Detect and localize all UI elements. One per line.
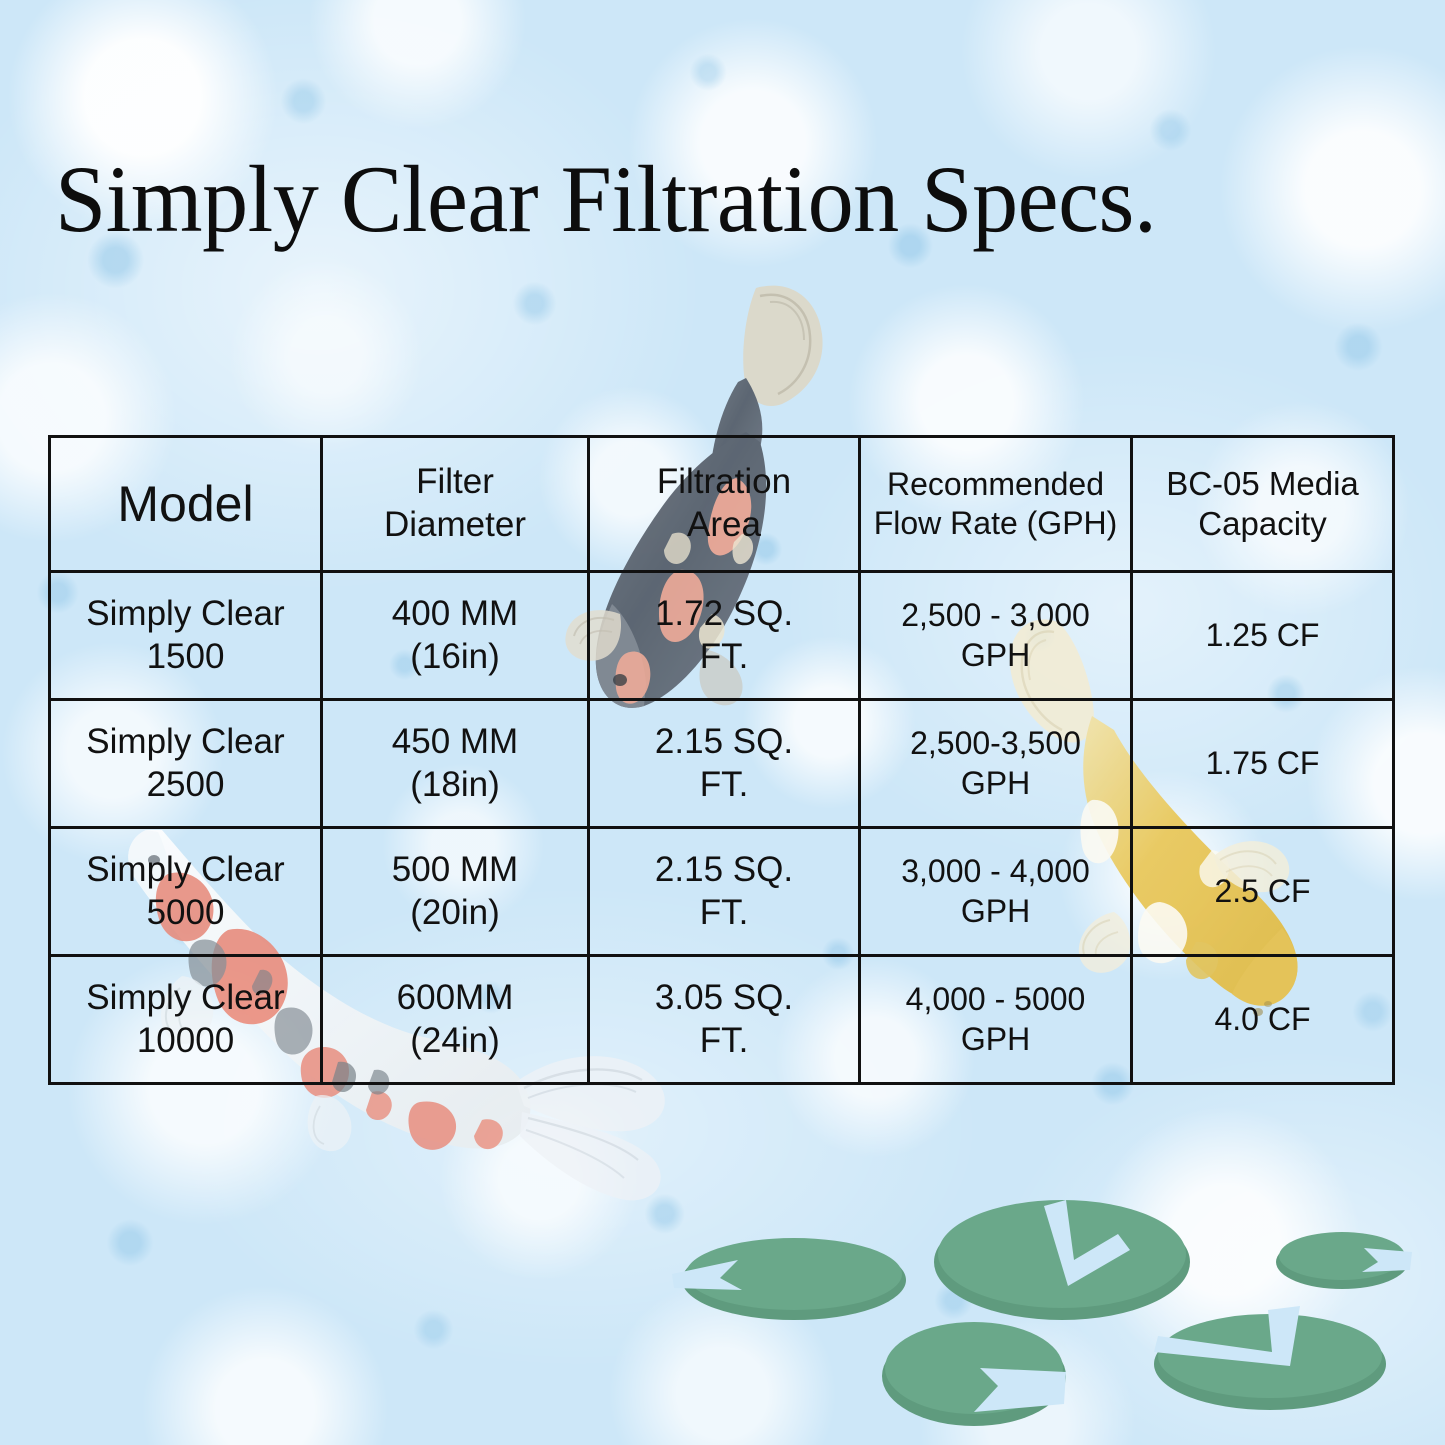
cell-line-1: 3,000 - 4,000: [867, 852, 1124, 891]
cell-line-2: GPH: [867, 764, 1124, 803]
cell-filtration-area: 1.72 SQ. FT.: [589, 572, 860, 700]
cell-line-2: FT.: [596, 1020, 852, 1063]
header-line-1: Filter: [329, 461, 581, 504]
cell-line-1: 400 MM: [329, 593, 581, 636]
cell-line-1: Simply Clear: [57, 849, 314, 892]
cell-line-1: 450 MM: [329, 721, 581, 764]
cell-line-1: 2,500-3,500: [867, 724, 1124, 763]
cell-filtration-area: 3.05 SQ. FT.: [589, 956, 860, 1084]
cell-filtration-area: 2.15 SQ. FT.: [589, 700, 860, 828]
header-line-2: Diameter: [329, 504, 581, 547]
cell-line-2: 5000: [57, 892, 314, 935]
cell-line-1: 2.15 SQ.: [596, 721, 852, 764]
column-header-recommended-flow-rate: Recommended Flow Rate (GPH): [860, 437, 1132, 572]
cell-filter-diameter: 400 MM (16in): [322, 572, 589, 700]
header-line-2: Flow Rate (GPH): [867, 504, 1124, 543]
header-line-2: Capacity: [1139, 504, 1386, 544]
cell-line-1: Simply Clear: [57, 593, 314, 636]
cell-line-1: 500 MM: [329, 849, 581, 892]
cell-line-2: GPH: [867, 1020, 1124, 1059]
cell-model: Simply Clear 2500: [50, 700, 322, 828]
cell-media-capacity: 1.75 CF: [1132, 700, 1394, 828]
cell-filtration-area: 2.15 SQ. FT.: [589, 828, 860, 956]
cell-line-2: (18in): [329, 764, 581, 807]
cell-line-1: Simply Clear: [57, 721, 314, 764]
cell-model: Simply Clear 5000: [50, 828, 322, 956]
page-title: Simply Clear Filtration Specs.: [55, 152, 1156, 247]
table-row: Simply Clear 2500 450 MM (18in) 2.15 SQ.…: [50, 700, 1394, 828]
cell-line-2: GPH: [867, 892, 1124, 931]
column-header-model: Model: [50, 437, 322, 572]
table-row: Simply Clear 10000 600MM (24in) 3.05 SQ.…: [50, 956, 1394, 1084]
cell-model: Simply Clear 10000: [50, 956, 322, 1084]
cell-filter-diameter: 600MM (24in): [322, 956, 589, 1084]
column-header-filter-diameter: Filter Diameter: [322, 437, 589, 572]
cell-media-capacity: 4.0 CF: [1132, 956, 1394, 1084]
cell-media-capacity: 1.25 CF: [1132, 572, 1394, 700]
cell-line-2: FT.: [596, 636, 852, 679]
header-line-1: Recommended: [867, 465, 1124, 504]
header-line-2: Area: [596, 504, 852, 547]
filtration-specs-table: Model Filter Diameter Filtration Area Re…: [48, 435, 1395, 1085]
lily-pad-small-right-illustration: [1272, 1222, 1412, 1292]
cell-flow-rate: 4,000 - 5000 GPH: [860, 956, 1132, 1084]
cell-line-2: GPH: [867, 636, 1124, 675]
cell-line-2: (20in): [329, 892, 581, 935]
column-header-bc05-media-capacity: BC-05 Media Capacity: [1132, 437, 1394, 572]
lily-pad-small-left-illustration: [672, 1228, 912, 1324]
cell-line-2: 10000: [57, 1020, 314, 1063]
cell-line-2: 1500: [57, 636, 314, 679]
header-line-1: BC-05 Media: [1139, 464, 1386, 504]
table-header-row: Model Filter Diameter Filtration Area Re…: [50, 437, 1394, 572]
cell-filter-diameter: 500 MM (20in): [322, 828, 589, 956]
cell-flow-rate: 2,500-3,500 GPH: [860, 700, 1132, 828]
table-row: Simply Clear 1500 400 MM (16in) 1.72 SQ.…: [50, 572, 1394, 700]
cell-line-1: 2,500 - 3,000: [867, 596, 1124, 635]
cell-line-2: FT.: [596, 764, 852, 807]
cell-line-1: 3.05 SQ.: [596, 977, 852, 1020]
cell-filter-diameter: 450 MM (18in): [322, 700, 589, 828]
cell-line-2: FT.: [596, 892, 852, 935]
cell-line-1: 600MM: [329, 977, 581, 1020]
column-header-filtration-area: Filtration Area: [589, 437, 860, 572]
cell-line-1: Simply Clear: [57, 977, 314, 1020]
table-row: Simply Clear 5000 500 MM (20in) 2.15 SQ.…: [50, 828, 1394, 956]
cell-line-1: 1.72 SQ.: [596, 593, 852, 636]
cell-flow-rate: 2,500 - 3,000 GPH: [860, 572, 1132, 700]
cell-line-1: 2.15 SQ.: [596, 849, 852, 892]
cell-line-2: 2500: [57, 764, 314, 807]
header-line-1: Filtration: [596, 461, 852, 504]
cell-line-1: 4,000 - 5000: [867, 980, 1124, 1019]
lily-pad-bottom-center-illustration: [878, 1300, 1078, 1436]
poster-canvas: Simply Clear Filtration Specs.: [0, 0, 1445, 1445]
cell-line-2: (16in): [329, 636, 581, 679]
cell-media-capacity: 2.5 CF: [1132, 828, 1394, 956]
lily-pad-bottom-right-illustration: [1150, 1292, 1390, 1418]
cell-flow-rate: 3,000 - 4,000 GPH: [860, 828, 1132, 956]
cell-line-2: (24in): [329, 1020, 581, 1063]
cell-model: Simply Clear 1500: [50, 572, 322, 700]
